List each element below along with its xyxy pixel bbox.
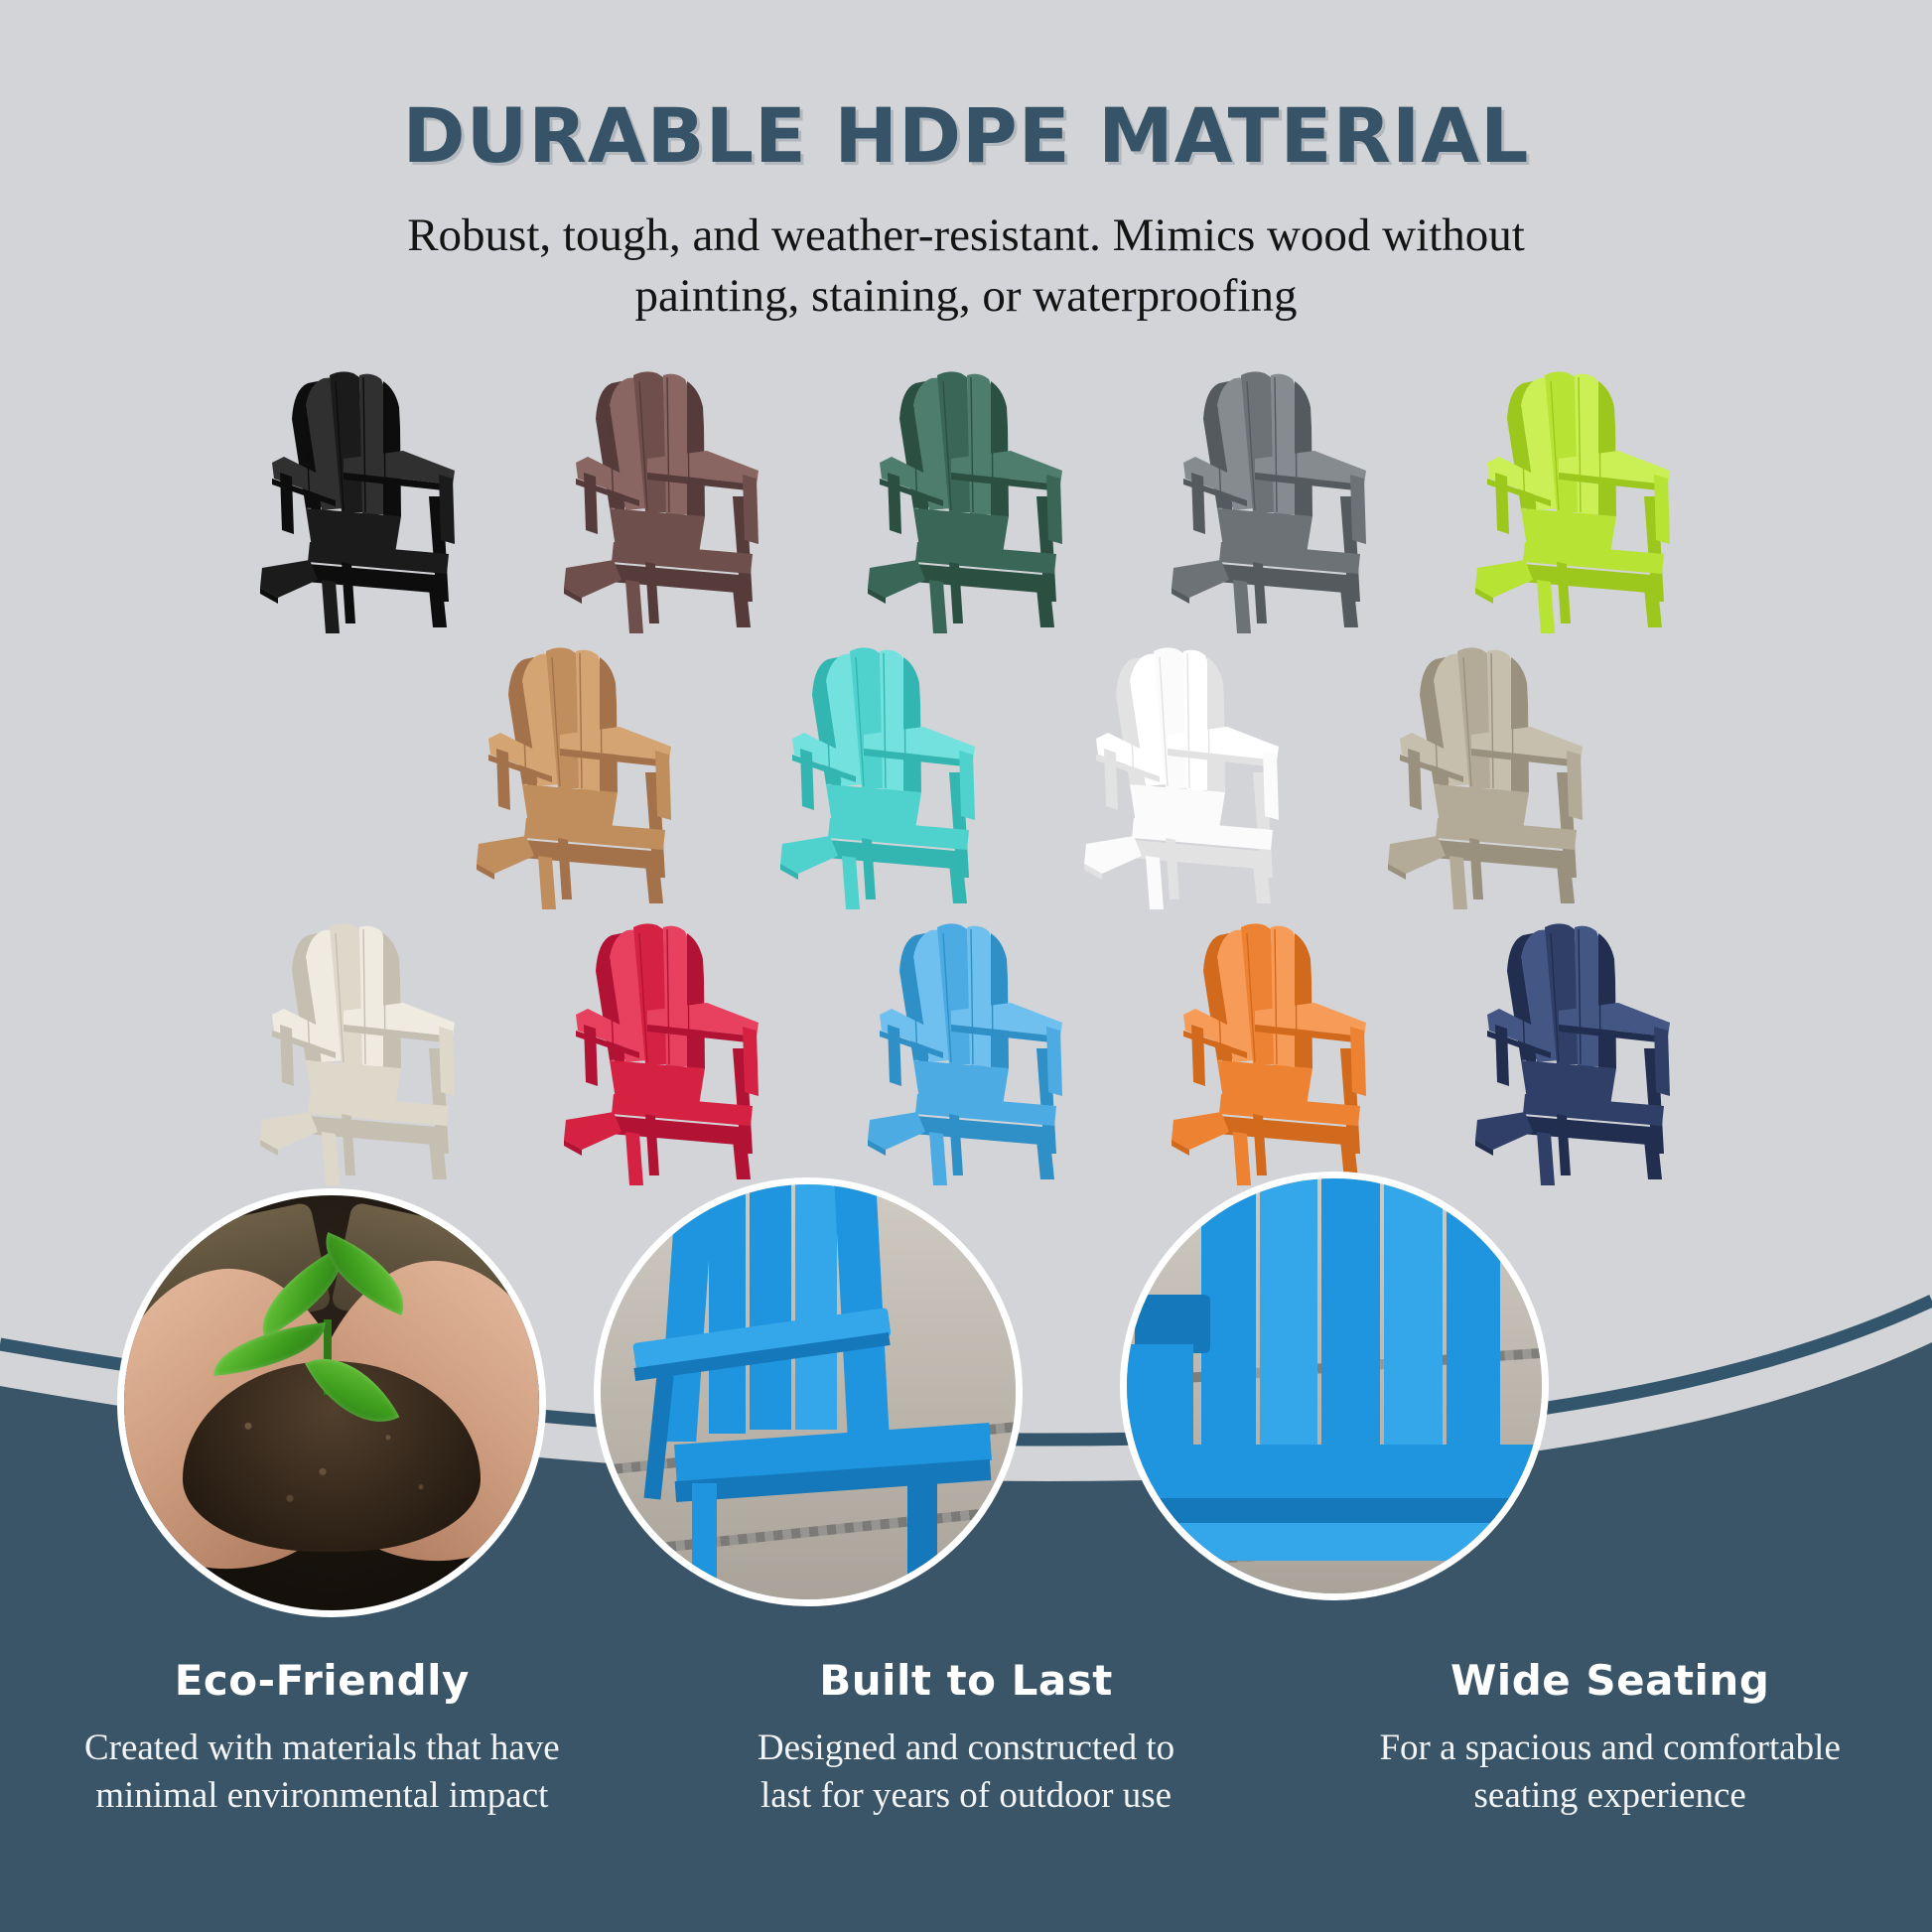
- chair-part: [584, 1025, 598, 1086]
- chair-part: [625, 1132, 643, 1185]
- chair-part: [888, 1025, 901, 1086]
- adirondack-chair-ivory: [244, 919, 473, 1187]
- chair-part: [1511, 657, 1529, 792]
- chair-part: [496, 749, 510, 810]
- slat-seam: [1208, 661, 1209, 790]
- chair-part: [625, 580, 643, 633]
- adirondack-chair-dark-green: [852, 367, 1080, 635]
- slat-seam: [384, 385, 385, 514]
- chair-part: [1495, 473, 1509, 534]
- chair-swatch-red: [548, 919, 776, 1187]
- adirondack-chair-khaki: [1372, 643, 1600, 911]
- feature-desc-line-2: minimal environmental impact: [95, 1775, 548, 1816]
- chair-part: [1084, 836, 1142, 874]
- chair-part: [929, 580, 947, 633]
- chair-swatch-black: [244, 367, 473, 635]
- feature-desc-line-1: Created with materials that have: [84, 1727, 560, 1768]
- blue-chair-wide-seat-icon: [1127, 1178, 1542, 1593]
- chair-swatch-dark-green: [852, 367, 1080, 635]
- adirondack-chair-brown: [548, 367, 776, 635]
- chair-swatch-gray: [1156, 367, 1384, 635]
- chair-swatch-khaki: [1372, 643, 1600, 911]
- chair-part: [322, 580, 340, 633]
- feature-title: Eco-Friendly: [34, 1656, 611, 1705]
- chair-part: [800, 749, 814, 810]
- built-to-last-photo: [594, 1177, 1023, 1606]
- header: DURABLE HDPE MATERIAL Robust, tough, and…: [0, 0, 1932, 327]
- slat-seam: [1599, 385, 1600, 514]
- chair-part: [991, 933, 1009, 1068]
- chair-part: [780, 836, 838, 874]
- chair-part: [991, 381, 1009, 516]
- feature-eco-friendly: Eco-Friendly Created with materials that…: [0, 1656, 644, 1820]
- chair-part: [1191, 473, 1205, 534]
- chair-swatch-light-blue: [852, 919, 1080, 1187]
- chair-part: [1146, 856, 1164, 909]
- slat-seam: [384, 937, 385, 1066]
- slat-seam: [1599, 937, 1600, 1066]
- adirondack-chair-turquoise: [764, 643, 993, 911]
- chair-part: [1350, 1027, 1366, 1096]
- chair-row-3: [0, 919, 1932, 1187]
- slat-seam: [601, 661, 602, 790]
- chair-part: [1295, 381, 1312, 516]
- chair-part: [1567, 751, 1583, 820]
- chair-swatch-turquoise: [764, 643, 993, 911]
- chair-part: [868, 1112, 925, 1150]
- chair-part: [842, 856, 860, 909]
- chair-part: [260, 1112, 318, 1150]
- chair-part: [743, 475, 759, 544]
- adirondack-chair-gray: [1156, 367, 1384, 635]
- chair-part: [1495, 1025, 1509, 1086]
- chair-row-2: [0, 643, 1932, 911]
- chair-swatch-lime-green: [1459, 367, 1688, 635]
- chair-part: [929, 1132, 947, 1185]
- chair-part: [260, 560, 318, 598]
- chair-part: [1172, 1112, 1229, 1150]
- chair-part: [1598, 381, 1616, 516]
- chair-part: [477, 836, 534, 874]
- adirondack-chair-black: [244, 367, 473, 635]
- adirondack-chair-light-blue: [852, 919, 1080, 1187]
- chair-part: [1449, 856, 1467, 909]
- chair-part: [655, 751, 671, 820]
- adirondack-chair-white: [1068, 643, 1297, 911]
- slat-seam: [992, 937, 993, 1066]
- chair-part: [888, 473, 901, 534]
- chair-swatch-navy-blue: [1459, 919, 1688, 1187]
- chair-swatch-orange: [1156, 919, 1384, 1187]
- chair-part: [1537, 580, 1555, 633]
- chair-part: [383, 933, 401, 1068]
- feature-built-to-last: Built to Last Designed and constructed t…: [644, 1656, 1289, 1820]
- slat-seam: [688, 385, 689, 514]
- wide-seating-photo: [1120, 1172, 1549, 1600]
- chair-part: [1475, 1112, 1533, 1150]
- adirondack-chair-navy-blue: [1459, 919, 1688, 1187]
- adirondack-chair-teak: [461, 643, 689, 911]
- blue-adirondack-chair-icon: [601, 1184, 1016, 1599]
- chair-part: [1046, 475, 1062, 544]
- slat-seam: [992, 385, 993, 514]
- chair-color-grid: [0, 367, 1932, 1241]
- feature-title: Built to Last: [678, 1656, 1255, 1705]
- feature-desc-line-2: last for years of outdoor use: [760, 1775, 1172, 1816]
- chair-part: [1046, 1027, 1062, 1096]
- chair-part: [1388, 836, 1446, 874]
- chair-swatch-white: [1068, 643, 1297, 911]
- chair-part: [1537, 1132, 1555, 1185]
- adirondack-chair-lime-green: [1459, 367, 1688, 635]
- chair-part: [1475, 560, 1533, 598]
- chair-part: [1263, 751, 1279, 820]
- slat-seam: [1512, 661, 1513, 790]
- chair-part: [1350, 475, 1366, 544]
- slat-seam: [1296, 385, 1297, 514]
- chair-swatch-ivory: [244, 919, 473, 1187]
- feature-description: Designed and constructed to last for yea…: [678, 1725, 1255, 1820]
- chair-part: [1654, 475, 1670, 544]
- chair-part: [903, 657, 921, 792]
- chair-part: [1104, 749, 1118, 810]
- slat-seam: [1296, 937, 1297, 1066]
- adirondack-chair-red: [548, 919, 776, 1187]
- chair-part: [1598, 933, 1616, 1068]
- chair-part: [1408, 749, 1422, 810]
- feature-title: Wide Seating: [1321, 1656, 1898, 1705]
- chair-part: [1295, 933, 1312, 1068]
- chair-part: [868, 560, 925, 598]
- chair-part: [1191, 1025, 1205, 1086]
- chair-part: [584, 473, 598, 534]
- feature-description: For a spacious and comfortable seating e…: [1321, 1725, 1898, 1820]
- chair-swatch-teak: [461, 643, 689, 911]
- chair-part: [439, 475, 455, 544]
- chair-part: [600, 657, 618, 792]
- feature-description: Created with materials that have minimal…: [34, 1725, 611, 1820]
- subtitle-line-1: Robust, tough, and weather-resistant. Mi…: [311, 206, 1621, 266]
- chair-part: [322, 1132, 340, 1185]
- feature-desc-line-1: For a spacious and comfortable: [1379, 1727, 1840, 1768]
- chair-swatch-brown: [548, 367, 776, 635]
- chair-part: [439, 1027, 455, 1096]
- slat-seam: [904, 661, 905, 790]
- feature-desc-line-1: Designed and constructed to: [758, 1727, 1174, 1768]
- subtitle-line-2: painting, staining, or waterproofing: [311, 266, 1621, 327]
- infographic-page: DURABLE HDPE MATERIAL Robust, tough, and…: [0, 0, 1932, 1932]
- chair-part: [687, 933, 705, 1068]
- feature-desc-line-2: seating experience: [1474, 1775, 1746, 1816]
- eco-friendly-photo: [117, 1188, 546, 1617]
- chair-part: [1172, 560, 1229, 598]
- feature-list: Eco-Friendly Created with materials that…: [0, 1656, 1932, 1820]
- feature-wide-seating: Wide Seating For a spacious and comforta…: [1288, 1656, 1932, 1820]
- chair-part: [743, 1027, 759, 1096]
- slat-seam: [688, 937, 689, 1066]
- chair-part: [1654, 1027, 1670, 1096]
- chair-part: [959, 751, 975, 820]
- seedling-in-hands-icon: [124, 1195, 539, 1610]
- page-title: DURABLE HDPE MATERIAL: [0, 0, 1932, 180]
- chair-part: [564, 560, 621, 598]
- chair-part: [687, 381, 705, 516]
- chair-row-1: [0, 367, 1932, 635]
- chair-part: [538, 856, 556, 909]
- chair-part: [1233, 1132, 1251, 1185]
- chair-part: [280, 1025, 294, 1086]
- chair-part: [564, 1112, 621, 1150]
- chair-part: [280, 473, 294, 534]
- chair-part: [1233, 580, 1251, 633]
- chair-part: [1207, 657, 1225, 792]
- page-subtitle: Robust, tough, and weather-resistant. Mi…: [311, 206, 1621, 327]
- chair-part: [383, 381, 401, 516]
- adirondack-chair-orange: [1156, 919, 1384, 1187]
